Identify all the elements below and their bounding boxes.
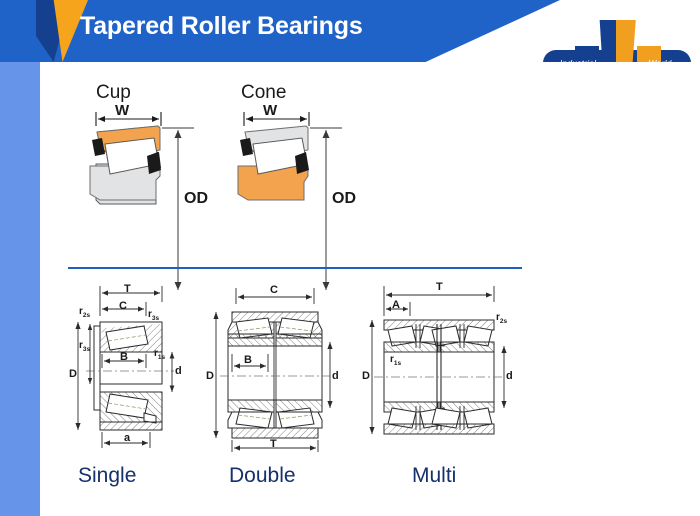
- cone-width-label: W: [263, 102, 277, 119]
- single-label-r3s: r3s: [79, 340, 90, 353]
- multi-label-T: T: [436, 281, 443, 293]
- double-label-d: d: [332, 370, 339, 382]
- double-caption: Double: [229, 464, 296, 488]
- single-label-r3s-alt-subscript: 3s: [152, 315, 159, 322]
- double-label-C: C: [270, 284, 278, 296]
- single-label-B: B: [120, 351, 128, 363]
- cup-od-label: OD: [184, 190, 208, 208]
- cup-caption: Cup: [96, 82, 131, 104]
- multi-label-r2s: r2s: [496, 312, 507, 325]
- cone-od-dimension-icon: [310, 128, 342, 290]
- single-label-r3s-subscript: 3s: [83, 346, 90, 353]
- single-label-r1s: r1s: [154, 348, 165, 361]
- page-title: Tapered Roller Bearings: [80, 12, 363, 41]
- multi-label-D: D: [362, 370, 370, 382]
- single-label-D: D: [69, 368, 77, 380]
- single-label-C: C: [119, 300, 127, 312]
- cup-od-dimension-icon: [162, 128, 194, 290]
- slide-root: Tapered Roller Bearings Industrial World…: [0, 0, 700, 516]
- single-label-r2s-subscript: 2s: [83, 312, 90, 319]
- multi-label-r1s: r1s: [390, 354, 401, 367]
- multi-label-A: A: [392, 299, 400, 311]
- multi-caption: Multi: [412, 464, 456, 488]
- single-label-d: d: [175, 365, 182, 377]
- single-label-T: T: [124, 283, 131, 295]
- multi-bearing-figure: T A D d r2s r1s: [358, 280, 518, 455]
- single-label-r1s-subscript: 1s: [158, 354, 165, 361]
- cone-caption: Cone: [241, 82, 286, 104]
- left-accent-rail: [0, 62, 40, 516]
- multi-label-r2s-subscript: 2s: [500, 318, 507, 325]
- double-bearing-figure: C B D d T: [202, 280, 342, 455]
- double-label-D: D: [206, 370, 214, 382]
- double-label-T: T: [270, 438, 277, 450]
- multi-label-r1s-subscript: 1s: [394, 360, 401, 367]
- cup-figure: W OD: [60, 102, 230, 302]
- single-caption: Single: [78, 464, 136, 488]
- single-label-r3s-alt: r3s: [148, 309, 159, 322]
- cup-width-label: W: [115, 102, 129, 119]
- single-bearing-figure: T C B D d a r2s r3s r3s r1s: [62, 280, 190, 455]
- cone-figure: W OD: [208, 102, 378, 302]
- cone-od-label: OD: [332, 190, 356, 208]
- single-label-a: a: [124, 432, 130, 444]
- single-label-r2s: r2s: [79, 306, 90, 319]
- double-label-B: B: [244, 354, 252, 366]
- multi-label-d: d: [506, 370, 513, 382]
- section-divider: [68, 267, 522, 269]
- slide-body: Cup Cone: [40, 62, 700, 516]
